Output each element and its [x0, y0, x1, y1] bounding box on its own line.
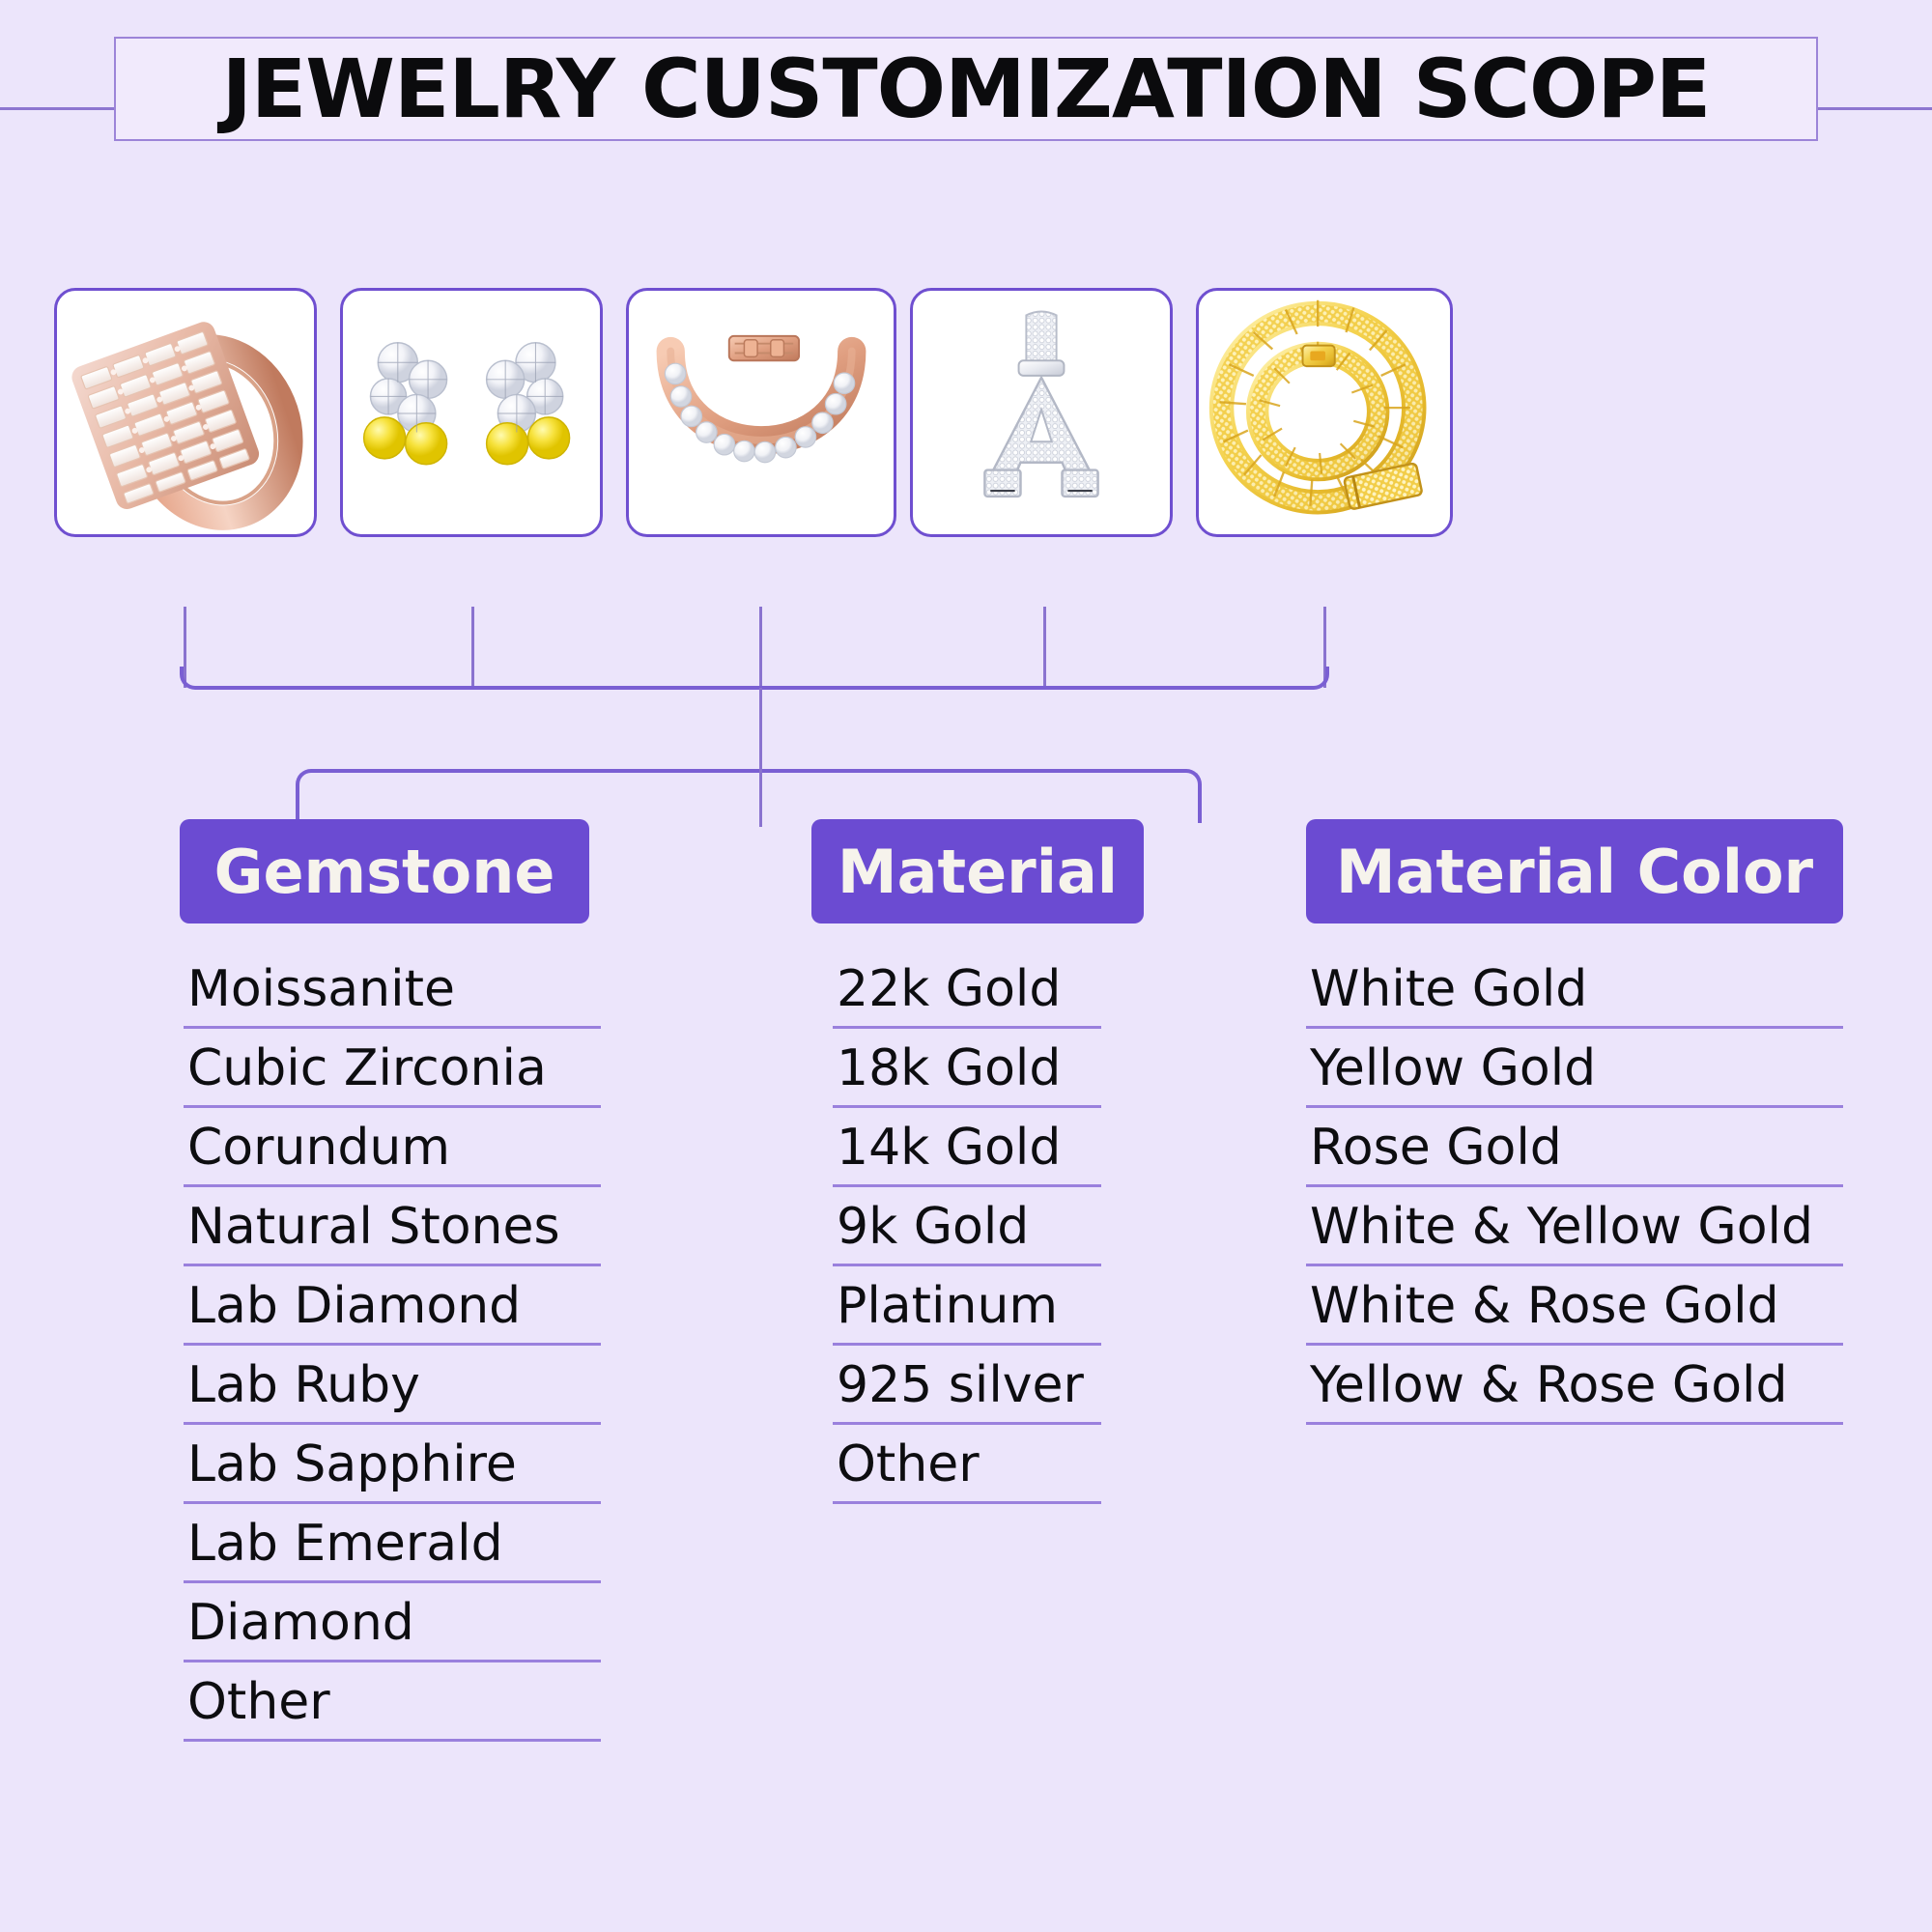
option-item[interactable]: White Gold [1306, 958, 1843, 1029]
connector-trunk [759, 688, 762, 771]
category-header-material[interactable]: Material [811, 819, 1144, 923]
tennis-bracelet-image [629, 291, 894, 534]
option-item[interactable]: 14k Gold [833, 1117, 1101, 1187]
option-item[interactable]: Diamond [184, 1592, 601, 1662]
option-item[interactable]: Platinum [833, 1275, 1101, 1346]
option-item[interactable]: 18k Gold [833, 1037, 1101, 1108]
option-item[interactable]: Other [833, 1434, 1101, 1504]
option-item[interactable]: 9k Gold [833, 1196, 1101, 1266]
connector-bus-top [180, 667, 1329, 690]
infographic-root: JEWELRY CUSTOMIZATION SCOPE [0, 0, 1932, 1932]
option-item[interactable]: Yellow Gold [1306, 1037, 1843, 1108]
option-item[interactable]: Lab Diamond [184, 1275, 601, 1346]
option-item[interactable]: Natural Stones [184, 1196, 601, 1266]
option-list-material-color: White Gold Yellow Gold Rose Gold White &… [1306, 958, 1843, 1434]
product-card-pave-ring[interactable] [54, 288, 317, 537]
option-item[interactable]: White & Yellow Gold [1306, 1196, 1843, 1266]
product-card-cluster-earrings[interactable] [340, 288, 603, 537]
option-item[interactable]: Lab Emerald [184, 1513, 601, 1583]
category-header-material-color[interactable]: Material Color [1306, 819, 1843, 923]
option-item[interactable]: Moissanite [184, 958, 601, 1029]
connector-bus-bottom [296, 769, 1202, 823]
product-card-letter-pendant[interactable] [910, 288, 1173, 537]
option-item[interactable]: Other [184, 1671, 601, 1742]
option-list-material: 22k Gold 18k Gold 14k Gold 9k Gold Plati… [833, 958, 1101, 1513]
option-item[interactable]: 925 silver [833, 1354, 1101, 1425]
category-header-material-label: Material [838, 837, 1118, 907]
cluster-earrings-image [343, 291, 600, 534]
product-card-cuban-chain[interactable] [1196, 288, 1453, 537]
category-header-gemstone-label: Gemstone [214, 837, 555, 907]
page-title: JEWELRY CUSTOMIZATION SCOPE [222, 42, 1711, 136]
letter-a-pendant-image [913, 291, 1170, 534]
cuban-chain-image [1199, 291, 1450, 534]
option-item[interactable]: Rose Gold [1306, 1117, 1843, 1187]
option-item[interactable]: Lab Ruby [184, 1354, 601, 1425]
option-item[interactable]: Corundum [184, 1117, 601, 1187]
option-item[interactable]: Lab Sapphire [184, 1434, 601, 1504]
product-card-tennis-bracelet[interactable] [626, 288, 896, 537]
title-box: JEWELRY CUSTOMIZATION SCOPE [114, 37, 1818, 141]
option-list-gemstone: Moissanite Cubic Zirconia Corundum Natur… [184, 958, 601, 1750]
option-item[interactable]: 22k Gold [833, 958, 1101, 1029]
connector-material-drop [759, 769, 762, 827]
category-header-material-color-label: Material Color [1336, 837, 1813, 907]
option-item[interactable]: Cubic Zirconia [184, 1037, 601, 1108]
pave-ring-image [57, 291, 314, 534]
product-card-row [0, 220, 1932, 607]
option-item[interactable]: White & Rose Gold [1306, 1275, 1843, 1346]
option-item[interactable]: Yellow & Rose Gold [1306, 1354, 1843, 1425]
category-header-gemstone[interactable]: Gemstone [180, 819, 589, 923]
